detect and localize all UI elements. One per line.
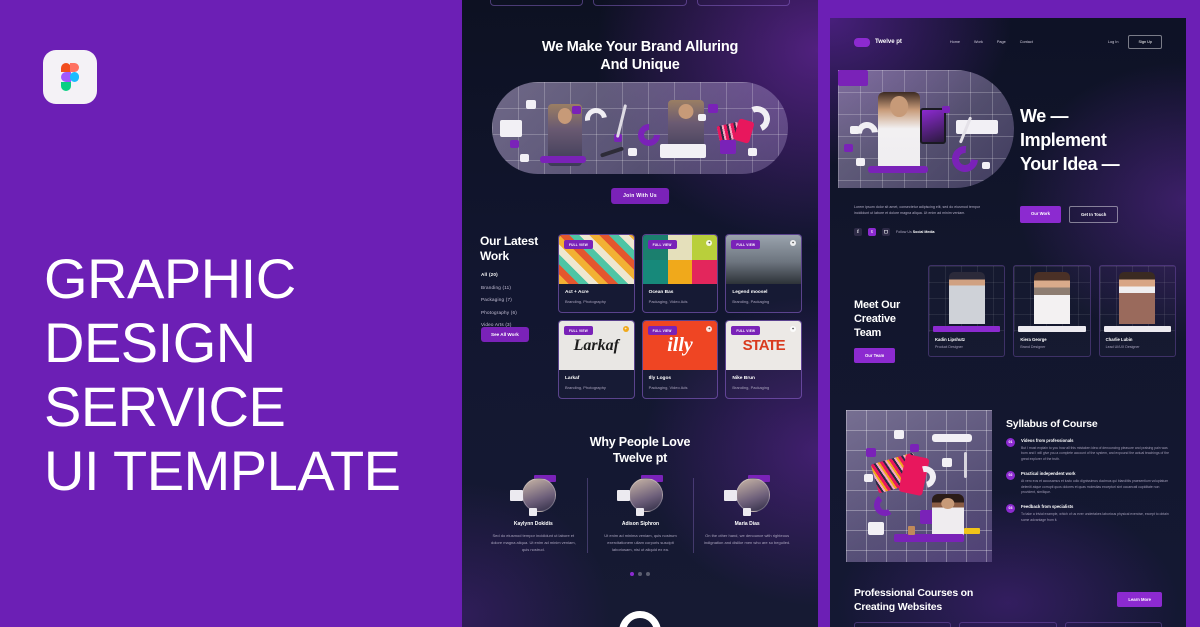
nav-link-contact[interactable]: Contact [1020, 40, 1033, 44]
figma-blue-shape [70, 72, 79, 81]
carousel-dot-active[interactable] [630, 572, 634, 576]
team-meta: Charlie Lubin Lead UI/UX Designer [1100, 332, 1175, 356]
cta-title-line-2: Creating Websites [854, 600, 1014, 614]
hero-heading-line-1: We — [1020, 104, 1180, 128]
promo-banner: GRAPHIC DESIGN SERVICE UI TEMPLATE We Ma… [0, 0, 1200, 627]
team-card[interactable]: Kiera George Brand Designer [1013, 265, 1090, 357]
work-card-title: Legend moosel [732, 290, 795, 296]
team-grid: Kadin Lipshutz Product Designer Kiera Ge… [928, 265, 1176, 357]
work-card[interactable]: Larkaf FULL VIEW + Larkaf Branding, Phot… [558, 320, 635, 399]
signup-button[interactable]: Sign Up [1128, 35, 1162, 49]
mockup-preview-a: We Make Your Brand Alluring And Unique [462, 0, 818, 627]
work-card-tags: Branding, Packaging [732, 385, 795, 390]
team-photo [929, 266, 1004, 332]
figma-green-shape [61, 82, 71, 91]
work-card-title: Act + Acre [565, 290, 628, 296]
nav-link-home[interactable]: Home [950, 40, 960, 44]
hero-cta-button[interactable]: Join With Us [611, 188, 669, 204]
decor-square [572, 106, 581, 114]
syllabus-heading: Videos from professionals [1021, 438, 1172, 443]
site-navbar: Twelve pt Home Work Page Contact Log In … [830, 34, 1186, 50]
work-thumbnail: illy FULL VIEW + [643, 321, 718, 370]
cta-title: Professional Courses on Creating Website… [854, 586, 1014, 614]
testimonials-heading-line-2: Twelve pt [462, 450, 818, 466]
testimonials-heading-line-1: Why People Love [462, 434, 818, 450]
team-member-role: Brand Designer [1020, 345, 1083, 349]
instagram-icon[interactable]: ◻ [882, 228, 890, 236]
decor-square [942, 458, 952, 467]
decor-square [856, 158, 865, 166]
filter-item-branding[interactable]: Branding (11) [481, 285, 551, 290]
work-card-tags: Branding, Photography [565, 385, 628, 390]
nav-link-page[interactable]: Page [997, 40, 1006, 44]
team-section-title: Meet Our Creative Team [854, 298, 926, 340]
syllabus-number: 01 [1006, 438, 1015, 447]
work-badge[interactable]: FULL VIEW [564, 326, 593, 335]
testimonials-heading: Why People Love Twelve pt [462, 434, 818, 466]
syllabus-text: Practical independent work At vero eos e… [1021, 471, 1172, 495]
decor-square [866, 448, 876, 457]
cta-card[interactable] [1065, 622, 1162, 627]
team-title-line-3: Team [854, 326, 926, 340]
decor-square [894, 430, 904, 439]
left-title-panel: GRAPHIC DESIGN SERVICE UI TEMPLATE [0, 0, 462, 627]
expand-icon[interactable]: + [790, 240, 796, 246]
mockup-preview-b: Twelve pt Home Work Page Contact Log In … [830, 18, 1186, 627]
decor-square [510, 140, 519, 148]
logo-mark-icon [854, 38, 870, 47]
social-label: Follow Us Social Media [896, 230, 935, 234]
carousel-dot[interactable] [646, 572, 650, 576]
syllabus-text: Videos from professionals But I must exp… [1021, 438, 1172, 462]
work-badge[interactable]: FULL VIEW [731, 240, 760, 249]
team-meta: Kiera George Brand Designer [1014, 332, 1089, 356]
headline-line-1: GRAPHIC [44, 247, 444, 311]
hero-heading: We — Implement Your Idea — [1020, 104, 1180, 176]
work-grid: FULL VIEW Act + Acre Branding, Photograp… [558, 234, 802, 399]
work-card-meta: Nike Brun Branding, Packaging [726, 370, 801, 398]
our-work-button[interactable]: Our Work [1020, 206, 1061, 223]
logo-text: Twelve pt [875, 39, 902, 45]
decor-bar [932, 434, 972, 442]
nav-links[interactable]: Home Work Page Contact [950, 40, 1033, 44]
syllabus-list: 01 Videos from professionals But I must … [1006, 438, 1172, 532]
work-card-meta: Act + Acre Branding, Photography [559, 284, 634, 312]
carousel-dots[interactable] [462, 572, 818, 576]
work-badge[interactable]: FULL VIEW [731, 326, 760, 335]
work-thumbnail: FULL VIEW [559, 235, 634, 284]
syllabus-item: 01 Videos from professionals But I must … [1006, 438, 1172, 462]
decor-square [864, 474, 873, 482]
work-card-meta: Larkaf Branding, Photography [559, 370, 634, 398]
work-card[interactable]: illy FULL VIEW + Illy Logos Packaging, V… [642, 320, 719, 399]
hero-illustration [838, 70, 1014, 188]
get-in-touch-button[interactable]: Get In Touch [1069, 206, 1118, 223]
team-photo [1014, 266, 1089, 332]
team-title-line-2: Creative [854, 312, 926, 326]
work-card-meta: Ocean Bas Packaging, Video Ads [643, 284, 718, 312]
team-member-name: Kiera George [1020, 337, 1083, 342]
testimonials-row: Kaylynn Dokidis Sed do eiusmod tempor in… [480, 478, 800, 553]
cta-card-row [854, 622, 1162, 627]
hero-heading-line-3: Your Idea — [1020, 152, 1180, 176]
follow-us-text: Follow Us [896, 230, 912, 234]
testimonial-card: Kaylynn Dokidis Sed do eiusmod tempor in… [480, 478, 587, 553]
work-card-title: Ocean Bas [649, 290, 712, 296]
hero-heading-line-2: Implement [1020, 128, 1180, 152]
see-all-work-button[interactable]: See All Work [481, 327, 529, 342]
work-card-meta: Illy Logos Packaging, Video Ads [643, 370, 718, 398]
team-member-role: Lead UI/UX Designer [1106, 345, 1169, 349]
work-card-title: Nike Brun [732, 376, 795, 382]
testimonial-card: Adison Siphron Ut enim ad minima veniam,… [587, 478, 694, 553]
figma-glyph [61, 63, 80, 91]
work-card[interactable]: FULL VIEW + Ocean Bas Packaging, Video A… [642, 234, 719, 313]
testimonial-name: Maria Dias [703, 521, 791, 527]
testimonial-body: On the other hand, we denounce with righ… [703, 532, 791, 546]
figma-logo-icon [43, 50, 97, 104]
compass-icon [964, 452, 967, 478]
coffee-cup [908, 526, 915, 535]
avatar [510, 478, 556, 512]
desk-bar [894, 534, 964, 542]
work-title-line-1: Our Latest [480, 234, 552, 249]
decor-square [868, 522, 884, 535]
work-card-tags: Packaging, Video Ads [649, 385, 712, 390]
syllabus-body: At vero eos et accusamus et iusto odio d… [1021, 479, 1172, 495]
learn-more-button[interactable]: Learn More [1117, 592, 1162, 607]
work-filter-list[interactable]: All (20) Branding (11) Packaging (7) Pho… [481, 272, 551, 335]
team-member-name: Charlie Lubin [1106, 337, 1169, 342]
avatar [724, 478, 770, 512]
social-media-text: Social Media [913, 230, 935, 234]
work-card-title: Larkaf [565, 376, 628, 382]
testimonial-name: Adison Siphron [597, 521, 685, 527]
work-badge[interactable]: FULL VIEW [648, 326, 677, 335]
testimonial-card: Maria Dias On the other hand, we denounc… [693, 478, 800, 553]
decor-square [838, 70, 868, 86]
work-card-tags: Branding, Photography [565, 299, 628, 304]
person-photo [932, 494, 964, 536]
person-base-bar [540, 156, 586, 163]
filter-item-photography[interactable]: Photography (6) [481, 310, 551, 315]
page-title: GRAPHIC DESIGN SERVICE UI TEMPLATE [44, 247, 444, 503]
testimonial-body: Sed do eiusmod tempor incididunt ut labo… [489, 532, 578, 553]
course-illustration [846, 410, 992, 562]
syllabus-body: But I must explain to you how all this m… [1021, 446, 1172, 462]
hero-illustration [492, 82, 788, 174]
tablet-device [920, 108, 946, 144]
decor-square [500, 120, 522, 137]
work-card-title: Illy Logos [649, 376, 712, 382]
person-photo [878, 92, 920, 172]
cta-card[interactable] [959, 622, 1056, 627]
hero-heading-line-1: We Make Your Brand Alluring [462, 38, 818, 56]
decor-square [698, 114, 706, 121]
laptop-shape [660, 144, 706, 158]
filter-item-all[interactable]: All (20) [481, 272, 551, 277]
hero-actions: Our Work Get In Touch [1020, 206, 1118, 223]
avatar [617, 478, 663, 512]
hero-heading: We Make Your Brand Alluring And Unique [462, 38, 818, 74]
decor-book [964, 528, 980, 534]
decor-square [720, 140, 736, 154]
syllabus-text: Feedback from specialists To take a triv… [1021, 504, 1172, 523]
expand-icon[interactable]: + [623, 326, 629, 332]
hero-heading-line-2: And Unique [462, 56, 818, 74]
figma-red-shape [61, 63, 71, 72]
team-member-name: Kadin Lipshutz [935, 337, 998, 342]
headline-line-2: DESIGN [44, 311, 444, 375]
social-row: f t ◻ Follow Us Social Media [854, 228, 935, 236]
expand-icon[interactable]: + [790, 326, 796, 332]
hero-body-text: Lorem ipsum dolor sit amet, consectetur … [854, 204, 984, 216]
decor-square [844, 144, 853, 152]
partial-card [593, 0, 686, 6]
work-title-line-2: Work [480, 249, 552, 264]
decor-square [982, 162, 990, 169]
work-thumbnail: FULL VIEW + [643, 235, 718, 284]
decor-square [910, 444, 919, 452]
work-badge[interactable]: FULL VIEW [648, 240, 677, 249]
carousel-dot[interactable] [638, 572, 642, 576]
testimonial-body: Ut enim ad minima veniam, quis nostrum e… [597, 532, 685, 553]
partial-card-strip [462, 0, 818, 6]
decor-square [748, 148, 757, 156]
partial-card [490, 0, 583, 6]
site-logo[interactable]: Twelve pt [854, 38, 902, 47]
syllabus-number: 02 [1006, 471, 1015, 480]
work-card[interactable]: FULL VIEW Act + Acre Branding, Photograp… [558, 234, 635, 313]
decor-square [526, 100, 536, 109]
partial-card [697, 0, 790, 6]
cta-title-line-1: Professional Courses on [854, 586, 1014, 600]
team-member-role: Product Designer [935, 345, 998, 349]
team-title-line-1: Meet Our [854, 298, 926, 312]
decor-square [708, 104, 718, 113]
work-section-title: Our Latest Work [480, 234, 552, 264]
syllabus-item: 03 Feedback from specialists To take a t… [1006, 504, 1172, 523]
cta-card[interactable] [854, 622, 951, 627]
figma-orange-shape [70, 63, 79, 72]
syllabus-body: To take a trivial example, which of us e… [1021, 512, 1172, 523]
syllabus-title: Syllabus of Course [1006, 418, 1098, 430]
team-photo [1100, 266, 1175, 332]
decor-square [942, 106, 950, 113]
work-thumbnail: FULL VIEW + [726, 235, 801, 284]
twitter-icon[interactable]: t [868, 228, 876, 236]
testimonial-name: Kaylynn Dokidis [489, 521, 578, 527]
work-thumbnail: Larkaf FULL VIEW + [559, 321, 634, 370]
team-meta: Kadin Lipshutz Product Designer [929, 332, 1004, 356]
login-link[interactable]: Log In [1108, 40, 1119, 44]
facebook-icon[interactable]: f [854, 228, 862, 236]
decor-square [628, 148, 637, 156]
work-thumbnail: STATE FULL VIEW + [726, 321, 801, 370]
syllabus-item: 02 Practical independent work At vero eo… [1006, 471, 1172, 495]
decor-square [520, 154, 529, 162]
decor-circle [619, 611, 661, 627]
work-badge[interactable]: FULL VIEW [564, 240, 593, 249]
nav-actions: Log In Sign Up [1108, 35, 1162, 49]
person-base-bar [868, 166, 928, 173]
headline-line-4: UI TEMPLATE [44, 439, 444, 503]
work-card-tags: Packaging, Video Ads [649, 299, 712, 304]
nav-link-work[interactable]: Work [974, 40, 983, 44]
work-card[interactable]: FULL VIEW + Legend moosel Branding, Pack… [725, 234, 802, 313]
our-team-button[interactable]: Our Team [854, 348, 895, 363]
work-card-meta: Legend moosel Branding, Packaging [726, 284, 801, 312]
work-card-tags: Branding, Packaging [732, 299, 795, 304]
syllabus-heading: Practical independent work [1021, 471, 1172, 476]
syllabus-number: 03 [1006, 504, 1015, 513]
work-card[interactable]: STATE FULL VIEW + Nike Brun Branding, Pa… [725, 320, 802, 399]
filter-item-packaging[interactable]: Packaging (7) [481, 297, 551, 302]
syllabus-heading: Feedback from specialists [1021, 504, 1172, 509]
team-card[interactable]: Charlie Lubin Lead UI/UX Designer [1099, 265, 1176, 357]
figma-purple-shape [61, 72, 71, 81]
headline-line-3: SERVICE [44, 375, 444, 439]
team-card[interactable]: Kadin Lipshutz Product Designer [928, 265, 1005, 357]
